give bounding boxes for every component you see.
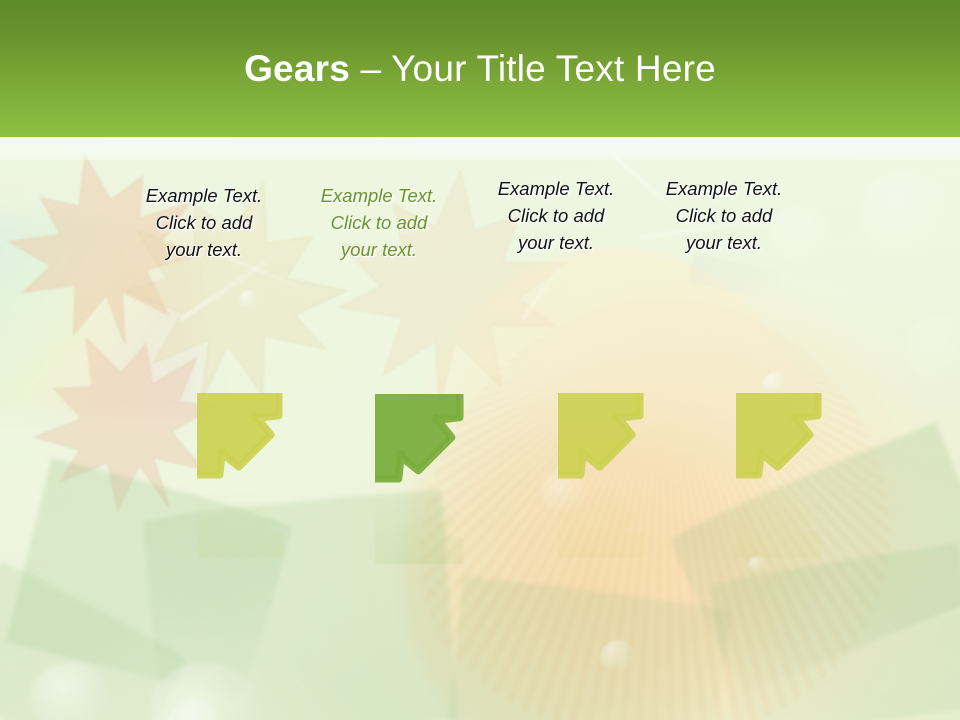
caption-line-2: Click to add	[482, 202, 630, 229]
caption-line-1: Example Text.	[482, 175, 630, 202]
caption-line-3: your text.	[650, 229, 798, 256]
caption-placeholder-4[interactable]: Example Text. Click to add your text.	[650, 175, 798, 256]
slide-canvas: Example Text. Click to add your text. Ex…	[0, 0, 960, 720]
caption-line-3: your text.	[482, 229, 630, 256]
caption-placeholder-1[interactable]: Example Text. Click to add your text.	[130, 182, 278, 263]
page-title-rest: – Your Title Text Here	[350, 48, 716, 89]
caption-line-1: Example Text.	[650, 175, 798, 202]
caption-line-1: Example Text.	[305, 182, 453, 209]
caption-placeholder-3[interactable]: Example Text. Click to add your text.	[482, 175, 630, 256]
gear-icon[interactable]	[648, 305, 824, 481]
caption-line-3: your text.	[305, 236, 453, 263]
caption-line-2: Click to add	[650, 202, 798, 229]
gear-icon[interactable]	[109, 305, 285, 481]
gear-icon[interactable]	[470, 305, 646, 481]
page-title: Gears – Your Title Text Here	[0, 0, 960, 137]
caption-placeholder-2[interactable]: Example Text. Click to add your text.	[305, 182, 453, 263]
caption-line-2: Click to add	[130, 209, 278, 236]
caption-line-3: your text.	[130, 236, 278, 263]
caption-line-1: Example Text.	[130, 182, 278, 209]
page-title-bold: Gears	[244, 48, 350, 89]
header-underlay-strip	[0, 137, 960, 160]
caption-line-2: Click to add	[305, 209, 453, 236]
gear-icon[interactable]	[284, 303, 466, 485]
